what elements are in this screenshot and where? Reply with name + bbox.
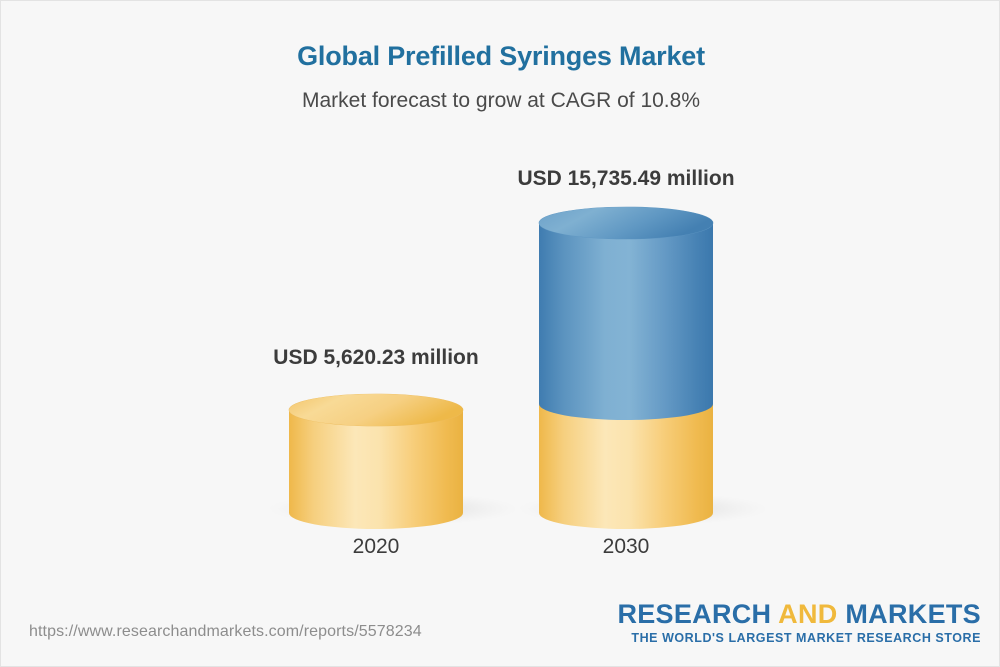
bar-2030-top-cap <box>539 207 713 239</box>
category-label-2030: 2030 <box>526 535 726 559</box>
logo-word-and-text: AND <box>778 599 837 629</box>
bar-2020[interactable] <box>289 394 463 529</box>
value-label-2030: USD 15,735.49 million <box>451 167 801 191</box>
logo-wordmark: RESEARCH AND MARKETS <box>617 600 981 628</box>
logo-tagline: THE WORLD'S LARGEST MARKET RESEARCH STOR… <box>617 631 981 645</box>
bar-2030-lower-segment <box>539 404 713 529</box>
logo-word-markets: MARKETS <box>845 599 981 629</box>
value-label-2020: USD 5,620.23 million <box>201 346 551 370</box>
logo-word-research: RESEARCH <box>617 599 771 629</box>
chart-plot <box>1 1 1000 667</box>
chart-canvas: Global Prefilled Syringes Market Market … <box>0 0 1000 667</box>
source-url[interactable]: https://www.researchandmarkets.com/repor… <box>29 623 422 641</box>
bar-2030-upper-segment <box>539 223 713 404</box>
brand-logo[interactable]: RESEARCH AND MARKETS THE WORLD'S LARGEST… <box>617 600 981 645</box>
bar-2030[interactable] <box>539 207 713 529</box>
category-label-2020: 2020 <box>276 535 476 559</box>
